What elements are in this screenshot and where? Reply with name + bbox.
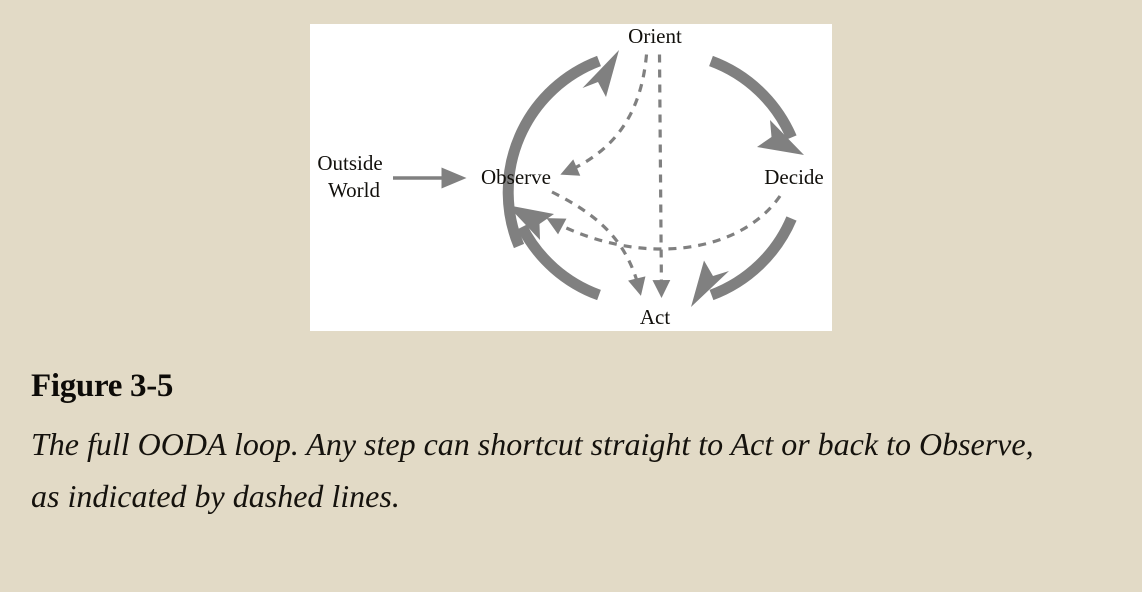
node-label-orient: Orient — [628, 24, 682, 48]
loop-arc-act-to-observe — [507, 205, 599, 295]
node-label-act: Act — [640, 305, 670, 329]
outside-world-label-line2: World — [328, 178, 380, 202]
figure-number: Figure 3-5 — [31, 368, 1091, 405]
figure-page: Orient Decide Act Observe Outside World … — [0, 0, 1142, 592]
ooda-loop-diagram: Orient Decide Act Observe Outside World — [310, 24, 832, 331]
dashed-orient-to-act — [660, 55, 662, 295]
node-label-decide: Decide — [764, 165, 823, 189]
loop-arc-orient-to-decide — [711, 61, 804, 155]
figure-panel: Orient Decide Act Observe Outside World — [310, 24, 832, 331]
node-label-observe: Observe — [481, 165, 551, 189]
caption-block: Figure 3-5 The full OODA loop. Any step … — [31, 368, 1091, 523]
dashed-decide-to-observe — [550, 196, 780, 249]
outside-world-label-line1: Outside — [317, 151, 382, 175]
figure-caption-text: The full OODA loop. Any step can shortcu… — [31, 419, 1051, 523]
